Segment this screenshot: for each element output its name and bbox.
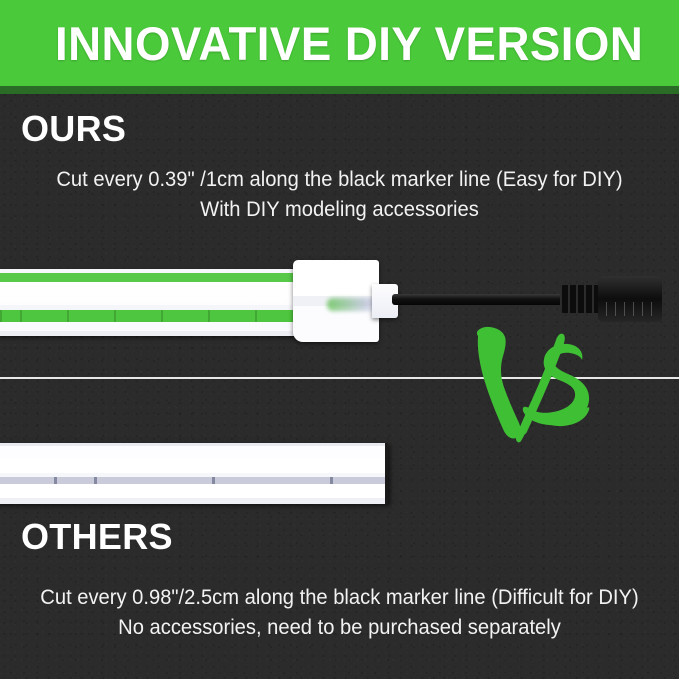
plug-body-highlights (606, 302, 654, 316)
others-led-strip (0, 443, 388, 504)
banner-title: INNOVATIVE DIY VERSION (55, 15, 643, 73)
plug-strain-relief-ribs (560, 285, 602, 313)
ours-strip-gloss (0, 282, 298, 310)
ours-description-line-2: With DIY modeling accessories (14, 195, 666, 225)
section-heading-ours: OURS (21, 109, 126, 149)
ours-led-strip (0, 269, 298, 336)
others-description-line-2: No accessories, need to be purchased sep… (14, 613, 666, 643)
ours-description-line-1: Cut every 0.39" /1cm along the black mar… (14, 165, 666, 195)
product-comparison-image: INNOVATIVE DIY VERSION OURS Cut every 0.… (0, 0, 679, 679)
header-banner-underline (0, 86, 679, 94)
vs-icon (464, 324, 590, 446)
others-description-line-1: Cut every 0.98"/2.5cm along the black ma… (14, 583, 666, 613)
ours-strip-cut-marks (0, 310, 298, 322)
section-heading-others: OTHERS (21, 517, 173, 557)
ours-dc-barrel-plug (598, 276, 662, 322)
others-strip-cut-marks (0, 477, 388, 484)
ours-strip-connector-housing (293, 260, 379, 342)
ours-power-cable (392, 294, 572, 305)
others-strip-cut-end (385, 443, 388, 504)
ours-plug-strain-relief (560, 285, 602, 313)
